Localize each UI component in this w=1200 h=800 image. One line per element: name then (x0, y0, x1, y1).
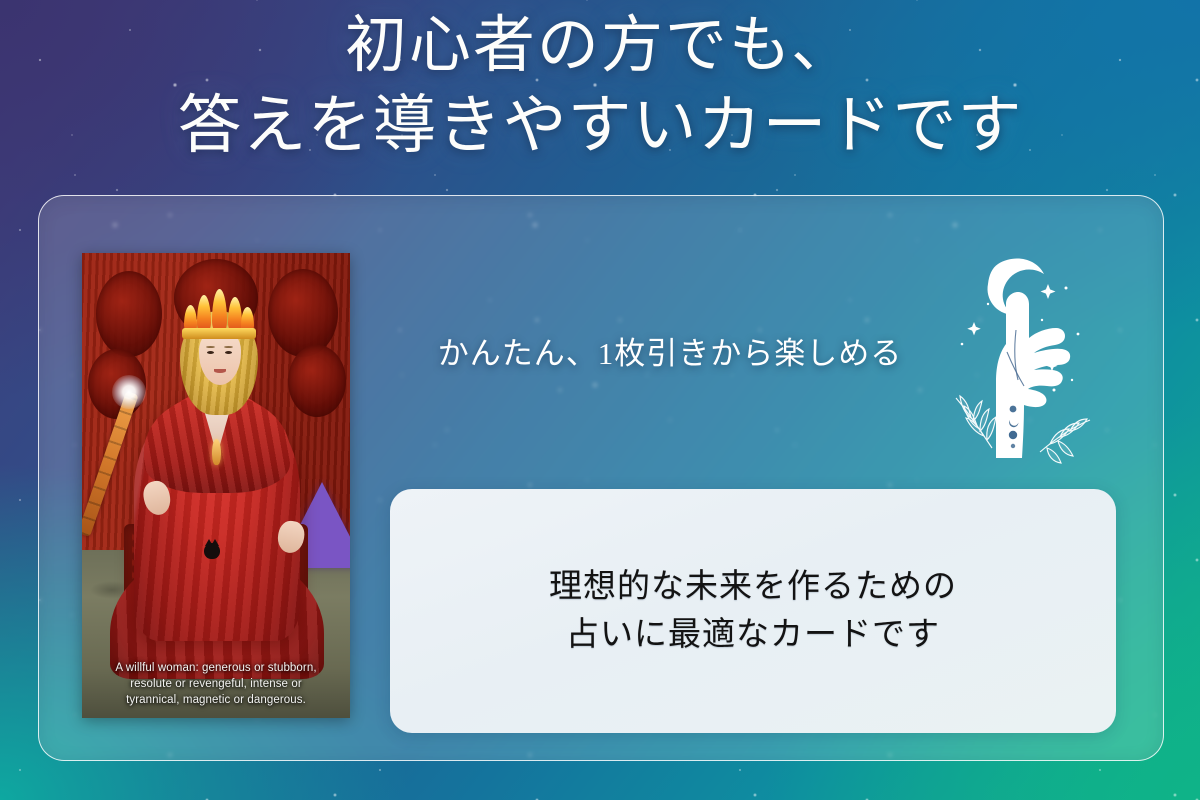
wand-icon (82, 391, 139, 537)
flame-crown-icon (182, 289, 256, 333)
page-title: 初心者の方でも、 答えを導きやすいカードです (0, 6, 1200, 166)
tarot-card-image: A willful woman: generous or stubborn, r… (82, 253, 350, 718)
queen-figure (82, 253, 350, 718)
info-card-line-1: 理想的な未来を作るための (549, 563, 957, 611)
headline-line-2: 答えを導きやすいカードです (0, 86, 1200, 166)
moon-hand-icon (944, 252, 1100, 464)
eye-left (207, 351, 214, 354)
headline-line-1: 初心者の方でも、 (0, 6, 1200, 86)
info-card-line-2: 占いに最適なカードです (566, 611, 940, 659)
crown-band (182, 328, 256, 339)
info-card: 理想的な未来を作るための 占いに最適なカードです (390, 489, 1116, 733)
mouth (214, 369, 226, 373)
eye-right (225, 351, 232, 354)
caption-line-2: resolute or revengeful, intense or (130, 678, 302, 690)
flame (212, 289, 227, 333)
caption-line-1: A willful woman: generous or stubborn, (115, 662, 316, 674)
eyebrow-right (224, 346, 233, 348)
caption-line-3: tyrannical, magnetic or dangerous. (126, 694, 306, 706)
tarot-card-caption: A willful woman: generous or stubborn, r… (82, 660, 350, 708)
eyebrow-left (206, 346, 215, 348)
black-cat-icon (204, 543, 220, 559)
wand-glow-icon (112, 375, 146, 409)
tagline-text: かんたん、1枚引きから楽しめる (400, 332, 940, 376)
promo-banner: 初心者の方でも、 答えを導きやすいカードです (0, 0, 1200, 800)
brooch-icon (212, 439, 221, 465)
